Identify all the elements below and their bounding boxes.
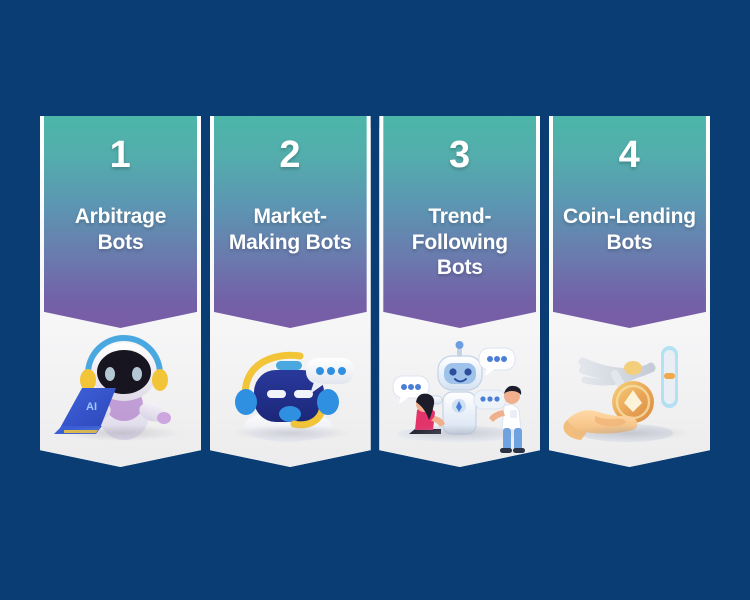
svg-text:AI: AI	[86, 401, 97, 413]
card-3-banner: 3 Trend-Following Bots	[383, 116, 536, 328]
card-4-title: Coin-Lending Bots	[553, 204, 706, 255]
card-3-title: Trend-Following Bots	[383, 204, 536, 281]
chatbot-with-two-people-icon	[379, 330, 540, 455]
card-1-title: Arbitrage Bots	[44, 204, 197, 255]
card-2[interactable]: 2 Market-Making Bots	[210, 116, 371, 471]
robot-head-with-headphones-icon	[210, 330, 371, 455]
card-1-art-shadow	[62, 425, 180, 441]
card-1[interactable]: 1 Arbitrage Bots	[40, 116, 201, 471]
card-4-art-shadow	[571, 425, 689, 441]
card-2-banner: 2 Market-Making Bots	[214, 116, 367, 328]
card-4[interactable]: 4 Coin-Lending Bots	[549, 116, 710, 471]
astronaut-robot-with-laptop-icon: AI	[40, 330, 201, 455]
card-1-banner: 1 Arbitrage Bots	[44, 116, 197, 328]
card-3-number: 3	[383, 134, 536, 177]
card-3[interactable]: 3 Trend-Following Bots	[379, 116, 540, 471]
card-4-number: 4	[553, 134, 706, 177]
card-2-title: Market-Making Bots	[214, 204, 367, 255]
hand-catching-coin-icon	[549, 330, 710, 455]
card-4-banner: 4 Coin-Lending Bots	[553, 116, 706, 328]
infographic-canvas: 1 Arbitrage Bots	[0, 0, 750, 600]
card-2-number: 2	[214, 134, 367, 177]
card-1-number: 1	[44, 134, 197, 177]
card-2-art-shadow	[232, 425, 350, 441]
card-3-art-shadow	[401, 425, 519, 441]
cards-row: 1 Arbitrage Bots	[40, 116, 710, 471]
